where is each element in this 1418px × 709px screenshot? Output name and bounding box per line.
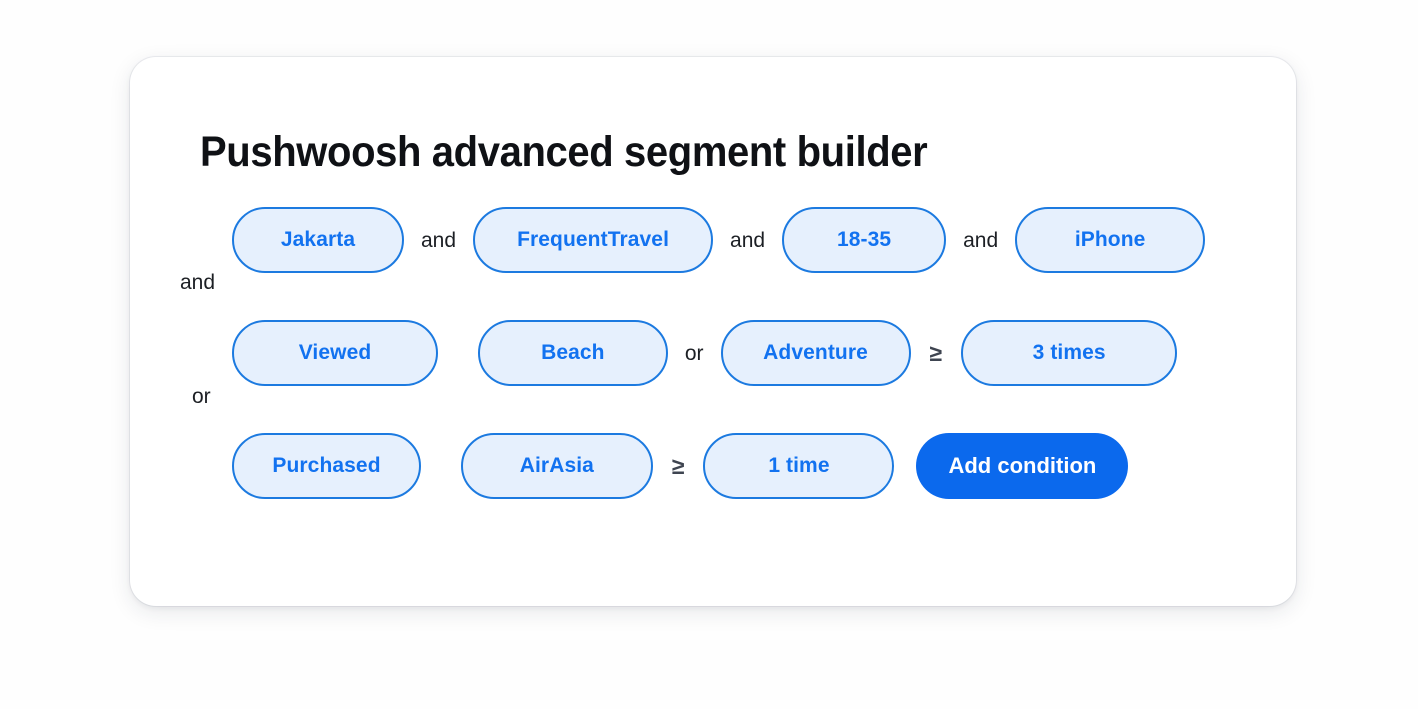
condition-group-3: or Purchased AirAsia ≥ 1 time Add condit…	[130, 433, 1296, 546]
group-connector-and[interactable]: and	[180, 272, 215, 293]
spacer	[421, 456, 461, 477]
connector-and[interactable]: and	[946, 230, 1015, 251]
operator-greater-equal-icon[interactable]: ≥	[911, 342, 962, 365]
condition-pill-frequenttravel[interactable]: FrequentTravel	[473, 207, 713, 273]
spacer	[438, 343, 478, 364]
connector-and[interactable]: and	[713, 230, 782, 251]
condition-group-2: and Viewed Beach or Adventure ≥ 3 times	[130, 320, 1296, 433]
condition-pill-airasia[interactable]: AirAsia	[461, 433, 653, 499]
group-connector-or[interactable]: or	[192, 386, 211, 407]
condition-pill-1-time[interactable]: 1 time	[703, 433, 894, 499]
segment-builder-card: Pushwoosh advanced segment builder Jakar…	[130, 57, 1296, 606]
connector-and[interactable]: and	[404, 230, 473, 251]
condition-pill-beach[interactable]: Beach	[478, 320, 668, 386]
segment-conditions: Jakarta and FrequentTravel and 18-35 and…	[130, 207, 1296, 546]
operator-greater-equal-icon[interactable]: ≥	[653, 455, 704, 478]
connector-or[interactable]: or	[668, 343, 721, 364]
condition-pill-purchased[interactable]: Purchased	[232, 433, 421, 499]
condition-pill-jakarta[interactable]: Jakarta	[232, 207, 404, 273]
page-title: Pushwoosh advanced segment builder	[200, 128, 927, 177]
add-condition-button[interactable]: Add condition	[916, 433, 1128, 499]
condition-pill-viewed[interactable]: Viewed	[232, 320, 438, 386]
condition-pill-iphone[interactable]: iPhone	[1015, 207, 1205, 273]
condition-pill-age-range[interactable]: 18-35	[782, 207, 946, 273]
condition-pill-adventure[interactable]: Adventure	[721, 320, 911, 386]
screenshot-root: Pushwoosh advanced segment builder Jakar…	[0, 0, 1418, 709]
condition-pill-3-times[interactable]: 3 times	[961, 320, 1177, 386]
condition-group-1: Jakarta and FrequentTravel and 18-35 and…	[130, 207, 1296, 320]
